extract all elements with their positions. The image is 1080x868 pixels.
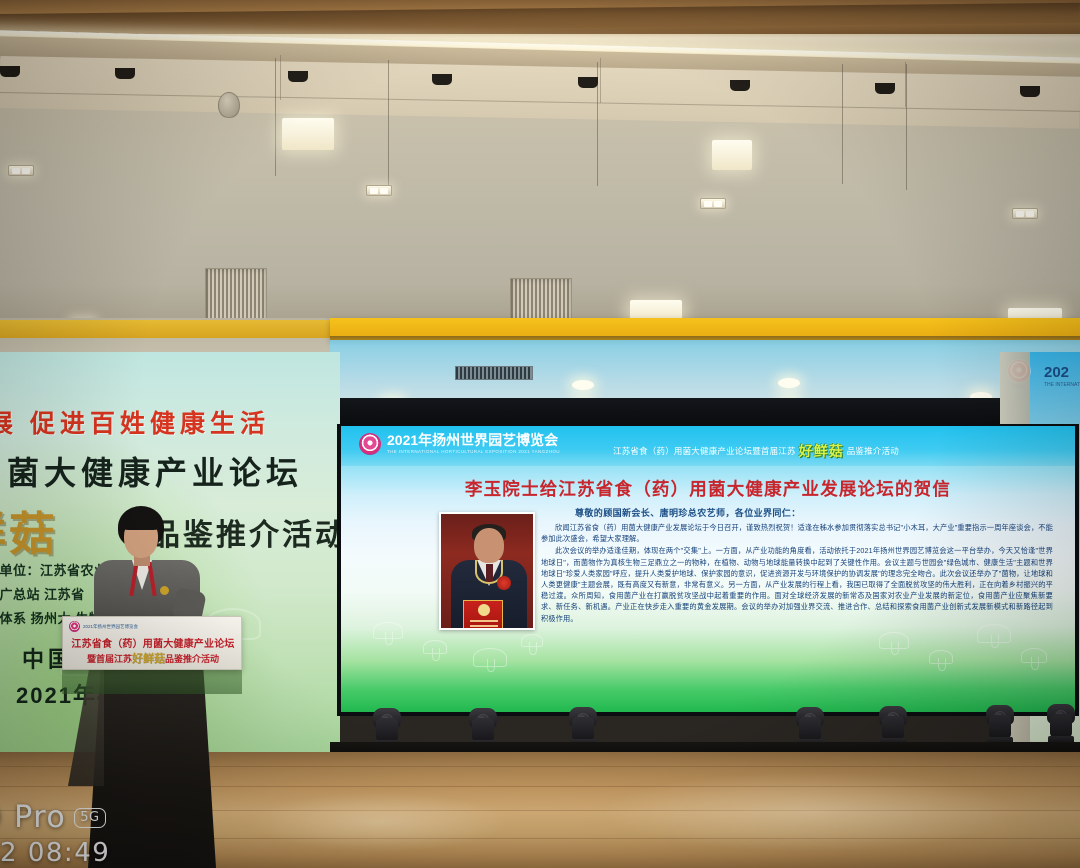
stage-yellow-band-left: [0, 320, 332, 338]
led-screen: 2021年扬州世界园艺博览会 THE INTERNATIONAL HORTICU…: [337, 424, 1079, 716]
podium-expo-logo: 2021年扬州世界园艺博览会: [69, 621, 138, 632]
ceiling-hanging-wire: [842, 64, 843, 184]
presentation-slide: 2021年扬州世界园艺博览会 THE INTERNATIONAL HORTICU…: [341, 426, 1075, 712]
event-brand: 好鲜菇: [799, 441, 844, 461]
podium-line2-prefix: 暨首届江苏: [87, 654, 132, 664]
slide-header: 2021年扬州世界园艺博览会 THE INTERNATIONAL HORTICU…: [341, 426, 1075, 466]
ceiling-downlight: [700, 198, 726, 209]
podium-sign: 2021年扬州世界园艺博览会 江苏省食（药）用菌大健康产业论坛 暨首届江苏好鲜菇…: [62, 616, 242, 670]
stage-soffit-vent: [455, 366, 533, 380]
podium-line2-suffix: 品鉴推介活动: [165, 654, 219, 664]
podium-line2-brand: 好鲜菇: [132, 653, 165, 665]
ceiling-spot-fixture: [1020, 86, 1040, 97]
ceiling-spot-fixture: [875, 83, 895, 94]
slide-logo-en: THE INTERNATIONAL HORTICULTURAL EXPOSITI…: [387, 450, 560, 455]
expo-logo-mark-icon: [359, 433, 381, 455]
ceiling-panel-light: [282, 118, 334, 150]
ceiling-seam: [280, 55, 281, 100]
watermark-5g-badge: 5G: [74, 808, 105, 828]
watermark-model-text: O Pro: [0, 800, 66, 835]
slide-logo-cn: 2021年扬州世界园艺博览会: [387, 433, 560, 447]
podium-logo-caption: 2021年扬州世界园艺博览会: [83, 624, 138, 630]
banner-left-black-line: 用菌大健康产业论坛: [0, 448, 340, 494]
device-watermark-timestamp: 22 08:49: [0, 838, 110, 868]
banner-left-red-line: 展 促进百姓健康生活: [0, 404, 340, 440]
ceiling-hanging-wire: [388, 60, 389, 190]
stage-moving-light: [985, 703, 1015, 747]
conference-hall-photo: 展 促进百姓健康生活 用菌大健康产业论坛 鲜菇 品鉴推介活动 办单位：江苏省农业…: [0, 0, 1080, 868]
ceiling-spot-fixture: [115, 68, 135, 79]
banner-right-year: 202: [1044, 364, 1069, 381]
portrait-photo: [439, 512, 535, 630]
ceiling-spot-fixture: [288, 71, 308, 82]
slide-paragraph: 此次会议的举办适逢佳期，体现在两个"交集"上。一方面，从产业功能的角度看，活动依…: [541, 545, 1053, 623]
portrait-red-flower: [497, 576, 511, 590]
banner-left-org-line: 推广总站 江苏省: [0, 584, 85, 603]
ceiling-hanging-wire: [906, 64, 907, 190]
portrait-certificate: [463, 600, 503, 630]
ceiling-spot-fixture: [432, 74, 452, 85]
speaker-badge-pin: [160, 586, 169, 595]
certificate-text-lines: [470, 620, 498, 622]
portrait-face: [474, 528, 504, 563]
slide-body-text: 欣闻江苏省食（药）用菌大健康产业发展论坛于今日召开，谨致热烈祝贺！适逢在秭水参加…: [541, 522, 1053, 625]
ceiling-seam: [600, 58, 601, 103]
slide-paragraph: 欣闻江苏省食（药）用菌大健康产业发展论坛于今日召开，谨致热烈祝贺！适逢在秭水参加…: [541, 522, 1053, 544]
speaker-person: [88, 506, 206, 634]
podium-line-2: 暨首届江苏好鲜菇品鉴推介活动: [63, 650, 243, 666]
slide-salutation: 尊敬的顾国新会长、唐明珍总农艺师，各位业界同仁：: [575, 506, 801, 519]
ceiling-panel-light: [712, 140, 752, 170]
led-screen-bezel: [337, 398, 1079, 426]
stage-soffit: [330, 340, 1080, 402]
expo-logo-mark-icon: [69, 621, 80, 632]
certificate-emblem-icon: [478, 604, 490, 616]
event-line-suffix: 品鉴推介活动: [847, 445, 899, 457]
slide-expo-logo: 2021年扬州世界园艺博览会 THE INTERNATIONAL HORTICU…: [359, 433, 560, 455]
stage-moving-light: [1046, 702, 1076, 746]
ceiling: [0, 0, 1080, 330]
ceiling-hanging-wire: [275, 58, 276, 176]
ceiling-spot-fixture: [0, 66, 20, 77]
ceiling-downlight: [1012, 208, 1038, 219]
soffit-downlight: [572, 380, 594, 390]
device-watermark-model: O Pro 5G: [0, 800, 106, 835]
ceiling-speaker-dome: [218, 92, 240, 118]
event-line-prefix: 江苏省食（药）用菌大健康产业论坛暨首届江苏: [613, 445, 796, 457]
slide-header-event-line: 江苏省食（药）用菌大健康产业论坛暨首届江苏 好鲜菇 品鉴推介活动: [613, 441, 899, 461]
soffit-downlight: [778, 378, 800, 388]
slide-title: 李玉院士给江苏省食（药）用菌大健康产业发展论坛的贺信: [341, 476, 1075, 501]
podium-line-1: 江苏省食（药）用菌大健康产业论坛: [63, 635, 243, 650]
banner-left-brand: 鲜菇: [0, 498, 58, 564]
speaker-fringe: [121, 515, 161, 530]
banner-right-subtitle: THE INTERNATIONAL: [1044, 382, 1080, 388]
ceiling-downlight: [366, 185, 392, 196]
podium-green-band: [62, 668, 242, 694]
ceiling-spot-fixture: [730, 80, 750, 91]
ceiling-spot-fixture: [578, 77, 598, 88]
ceiling-downlight: [8, 165, 34, 176]
